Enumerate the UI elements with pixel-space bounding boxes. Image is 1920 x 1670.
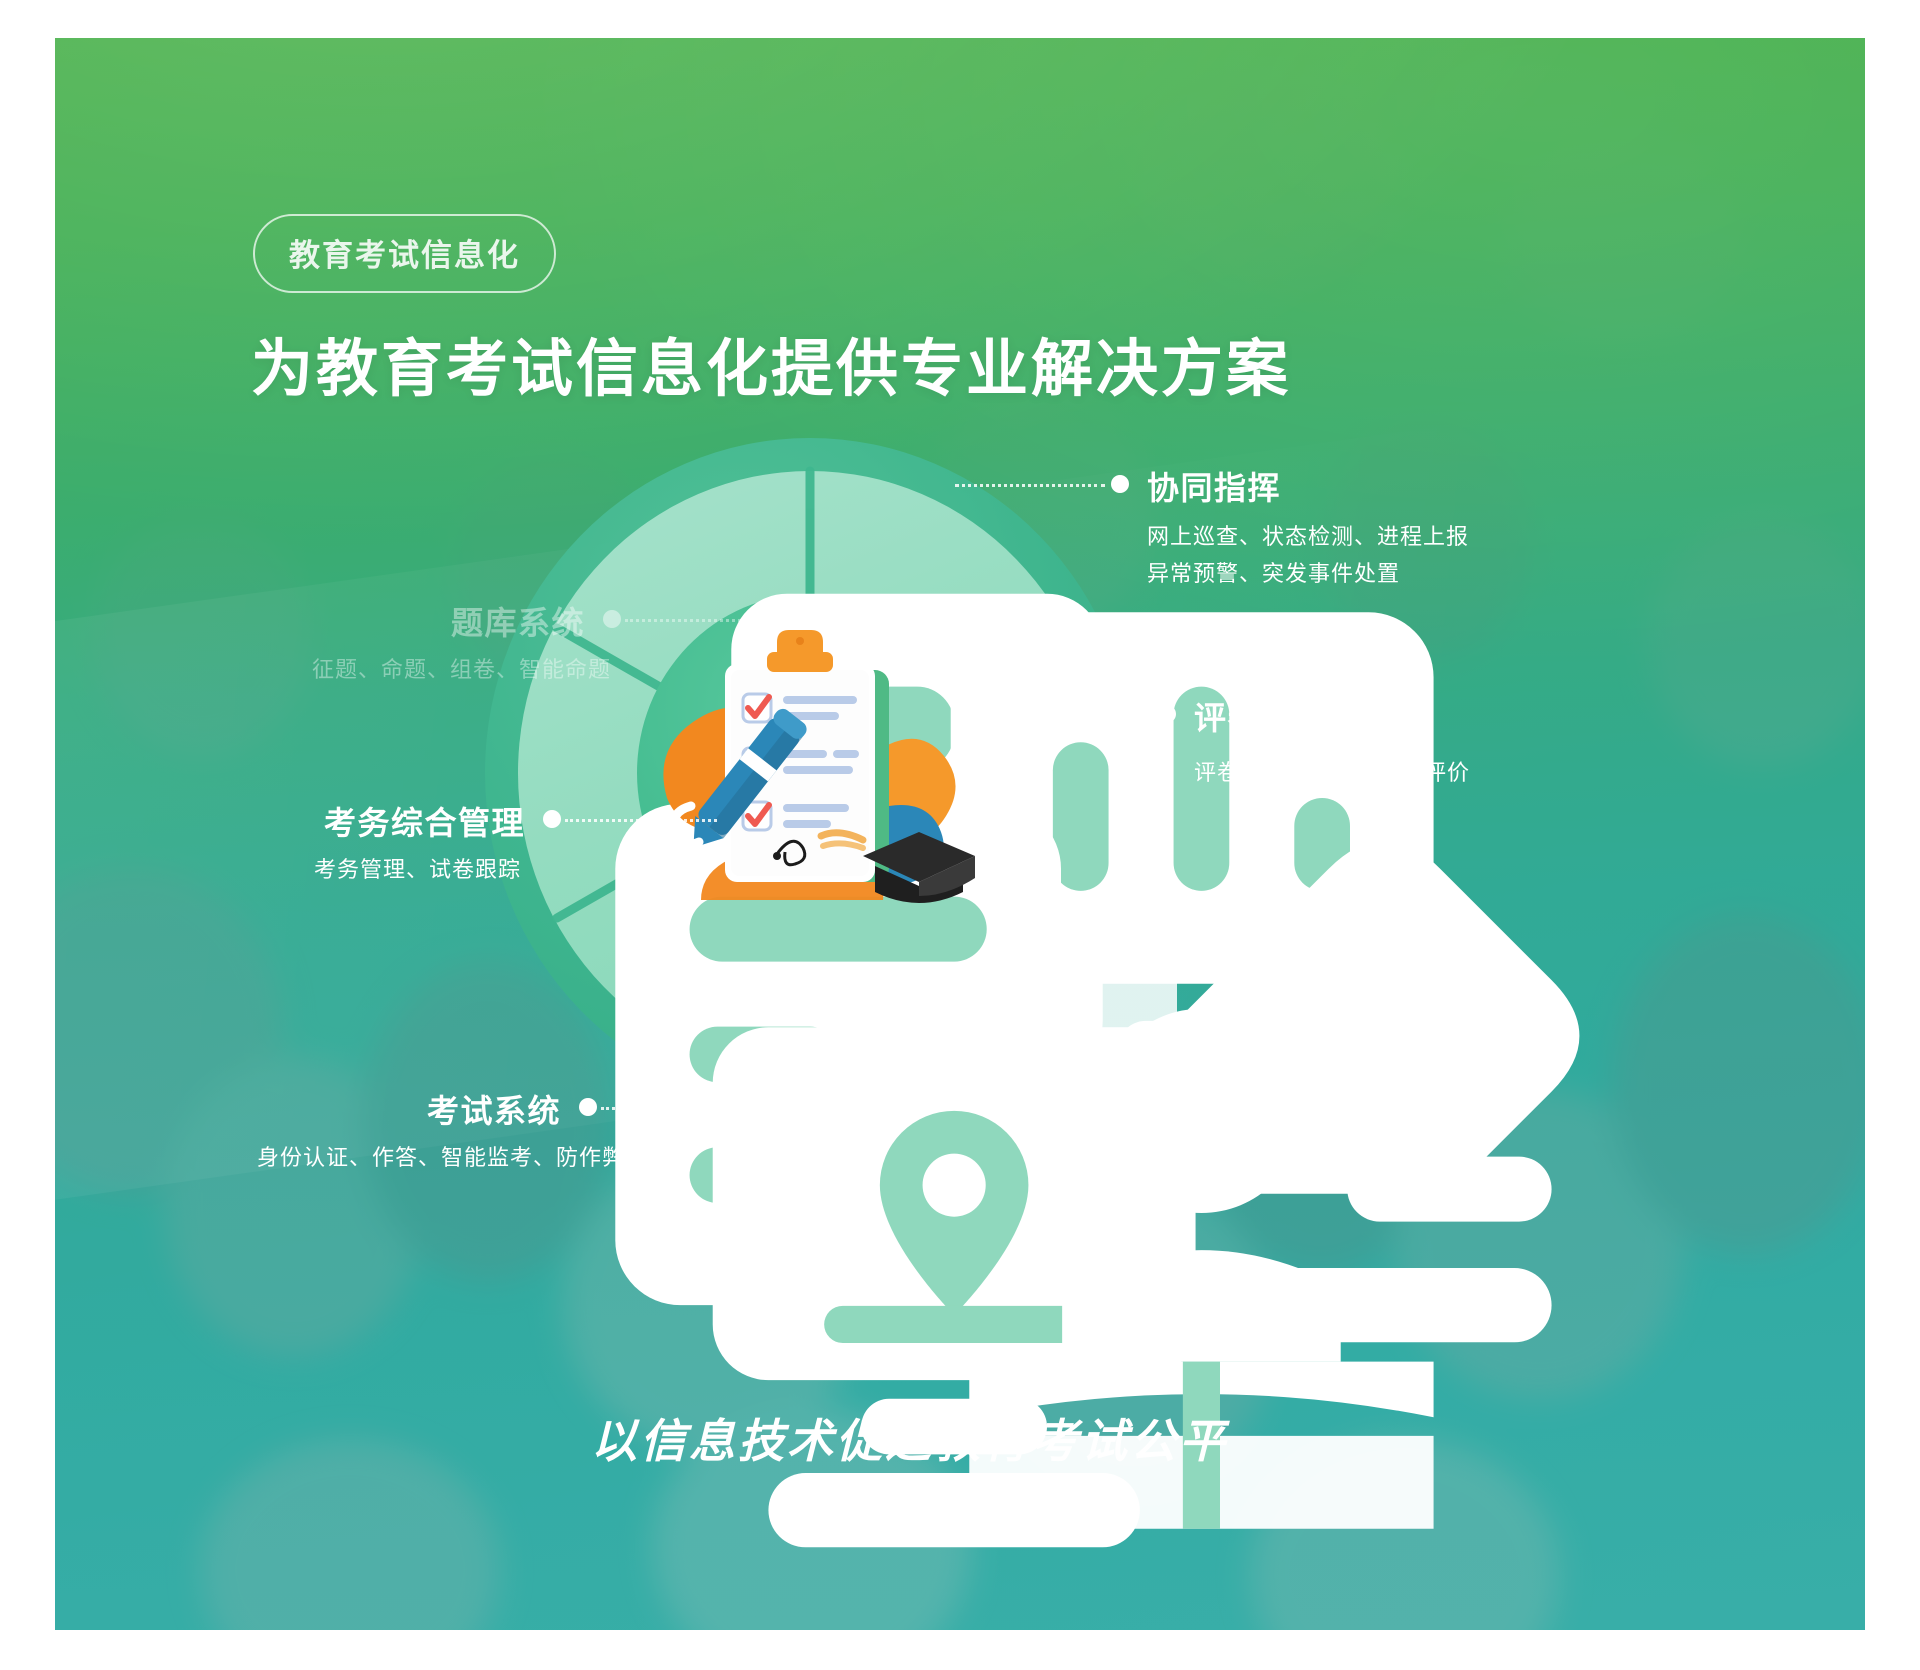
callout-desc: 报名、志愿填报、综合查询 [1147,1148,1555,1185]
connector-line [625,619,795,622]
connector-line [565,819,717,822]
hero-banner: 教育考试信息化 为教育考试信息化提供专业解决方案 [55,38,1865,1630]
page-title: 为教育考试信息化提供专业解决方案 [251,318,1291,408]
callout-title: 评卷评价 [1194,693,1328,739]
connector-dot [1158,705,1176,723]
callout-collaborative-command[interactable]: 协同指挥 网上巡查、状态检测、进程上报 异常预警、突发事件处置 [955,463,1555,593]
callout-desc: 考务管理、试卷跟踪 [55,852,595,889]
connector-dot [579,1098,597,1116]
callout-desc: 征题、命题、组卷、智能命题 [55,652,655,689]
callout-desc-line1: 网上巡查、状态检测、进程上报 [1147,519,1555,556]
callout-title: 考试系统 [427,1086,561,1132]
document-stack-icon [657,528,727,598]
category-badge: 教育考试信息化 [253,214,556,293]
connector-line [955,1107,1105,1110]
monitor-location-icon [657,943,727,1013]
connector-dot [603,610,621,628]
callout-exam-system[interactable]: 考试系统 身份认证、作答、智能监考、防作弊 [55,1086,631,1177]
connector-dot [1111,475,1129,493]
callout-desc-line2: 异常预警、突发事件处置 [1147,556,1555,593]
connector-dot [1111,1098,1129,1116]
connector-line [955,484,1105,487]
person-book-icon [895,943,965,1013]
footer-tagline: 以信息技术促进教育考试公平 [591,1405,1228,1471]
callout-title: 考务综合管理 [324,798,525,844]
callout-exam-admin[interactable]: 考务综合管理 考务管理、试卷跟踪 [55,798,595,889]
callout-title: 协同指挥 [1147,463,1281,509]
callout-candidate-service[interactable]: 考生服务 报名、志愿填报、综合查询 [955,1086,1555,1185]
callout-grading-evaluation[interactable]: 评卷评价 评卷、智能评分、考生评价 [1040,693,1640,792]
callout-desc: 身份认证、作答、智能监考、防作弊 [55,1140,631,1177]
callout-title: 题库系统 [451,598,585,644]
callout-title: 考生服务 [1147,1086,1281,1132]
callout-question-bank[interactable]: 题库系统 征题、命题、组卷、智能命题 [55,598,655,689]
connector-dot [543,810,561,828]
connector-line [1040,714,1152,717]
exam-clipboard-illustration [627,608,1007,948]
banner-canvas: 教育考试信息化 为教育考试信息化提供专业解决方案 [0,0,1920,1670]
connector-line [601,1107,813,1110]
callout-desc: 评卷、智能评分、考生评价 [1194,755,1640,792]
